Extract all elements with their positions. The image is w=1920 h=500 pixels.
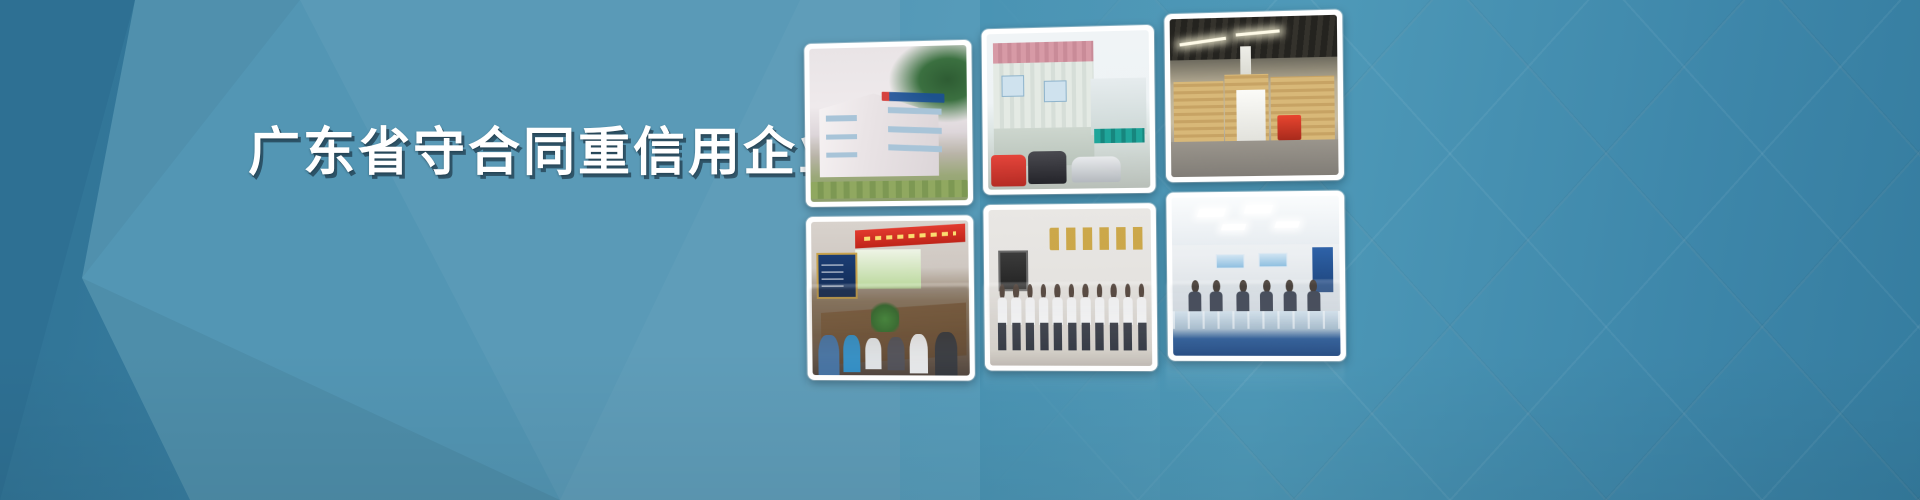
attendee [887, 337, 905, 371]
window-strip [826, 134, 857, 140]
window [1001, 75, 1024, 96]
photo-warehouse-stock[interactable] [1164, 9, 1344, 182]
staff-member [996, 285, 1010, 357]
attendee [934, 332, 957, 375]
wall-company-name [1050, 227, 1145, 250]
photo-gallery [804, 30, 1348, 386]
red-van [991, 155, 1027, 187]
attendee [843, 335, 861, 372]
attendee [818, 335, 839, 375]
window [1043, 81, 1066, 102]
staff-member [1037, 284, 1051, 356]
lobby-floor [990, 350, 1152, 366]
wall-poster [1215, 254, 1244, 269]
warehouse-ceiling [1170, 15, 1338, 61]
company-banner: 广东省守合同重信用企业 [0, 0, 1920, 500]
projection-screen [855, 249, 921, 289]
staff-member [1079, 284, 1093, 356]
office-worker [1259, 279, 1274, 311]
office-ceiling [1172, 196, 1340, 245]
staff-member [1135, 284, 1149, 356]
hedge-row [811, 180, 968, 199]
black-van [1028, 151, 1067, 184]
staff-member [1107, 284, 1121, 356]
window-strip [888, 126, 942, 134]
ceiling-light [1274, 222, 1300, 229]
staff-member [1093, 284, 1107, 356]
forklift [1277, 115, 1301, 141]
adjacent-building [1090, 77, 1146, 135]
staff-member [1009, 285, 1023, 357]
window-strip [826, 152, 857, 158]
sack-stack [1174, 81, 1224, 142]
staff-member [1023, 284, 1037, 356]
photo-office-area[interactable] [1166, 191, 1346, 362]
staff-member [1051, 284, 1065, 356]
office-worker [1235, 279, 1250, 311]
green-fence [1094, 128, 1145, 143]
attendee [909, 334, 928, 374]
photo-factory-building[interactable] [804, 40, 973, 207]
window-strip [825, 115, 856, 121]
staff-row [996, 284, 1149, 356]
banner-headline: 广东省守合同重信用企业 [248, 122, 853, 184]
photo-meeting-room[interactable] [806, 215, 975, 380]
ceiling-light [1221, 224, 1246, 231]
office-worker [1209, 280, 1224, 312]
table-plant [871, 298, 900, 332]
office-worker [1306, 279, 1322, 311]
notice-board [816, 252, 858, 299]
roof-band [993, 41, 1093, 64]
white-sedan [1072, 157, 1121, 183]
attendee [865, 338, 881, 369]
ceiling-light [1197, 208, 1226, 216]
office-worker [1187, 280, 1202, 312]
staff-member [1065, 284, 1079, 356]
warehouse-floor [1171, 140, 1339, 177]
photo-row-top [804, 30, 1346, 207]
white-bag-stack [1237, 90, 1266, 141]
wall-poster [1259, 252, 1288, 267]
photo-factory-entrance[interactable] [981, 25, 1155, 195]
photo-row-bottom [806, 211, 1348, 382]
office-partition-counter [1173, 311, 1341, 356]
office-worker [1282, 279, 1297, 311]
staff-member [1121, 284, 1135, 356]
ceiling-light [1243, 205, 1272, 213]
photo-team-group[interactable] [983, 203, 1157, 371]
red-event-banner [855, 224, 965, 249]
